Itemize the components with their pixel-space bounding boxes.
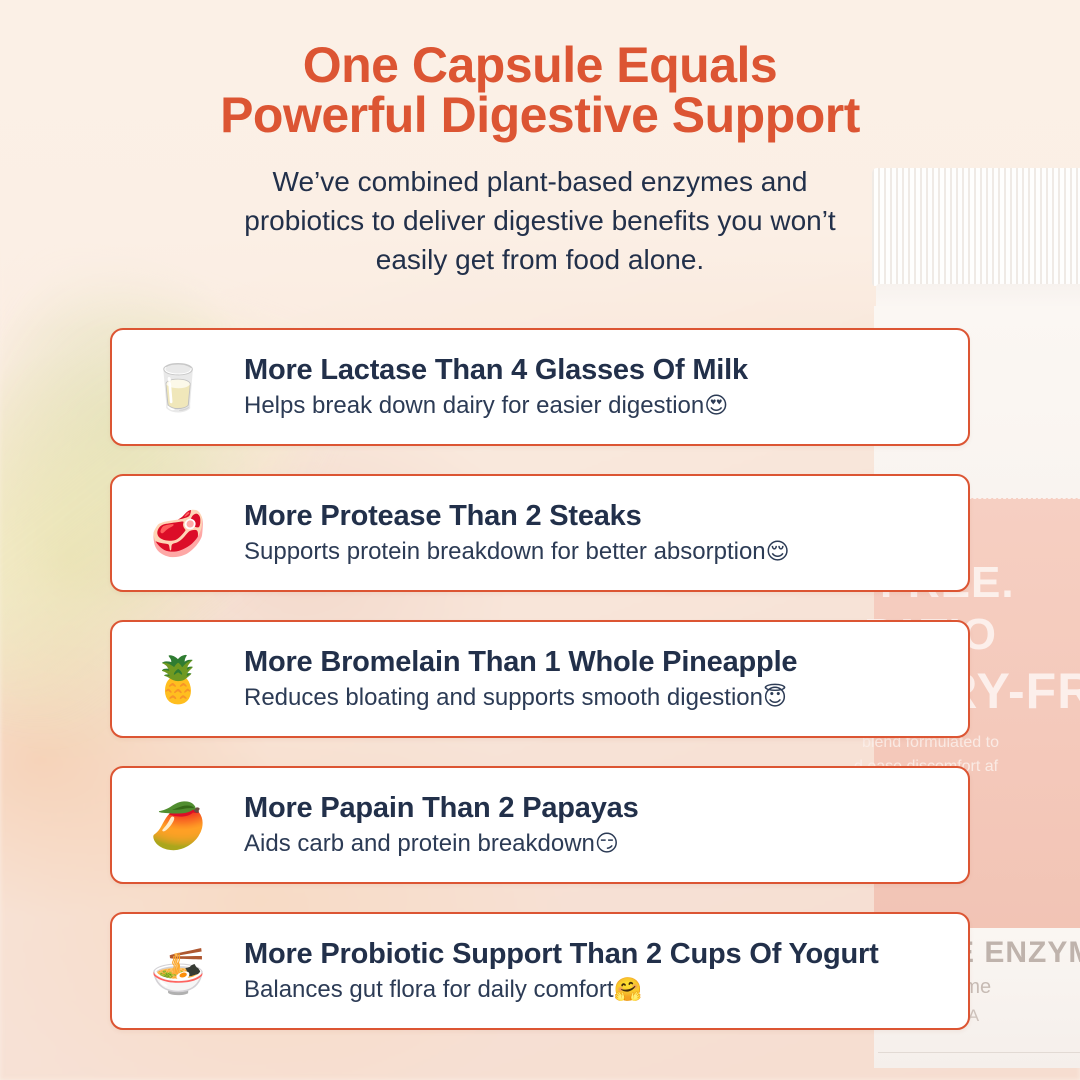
heart-eyes-emoji: 😍 xyxy=(704,393,728,419)
benefit-card-description: Supports protein breakdown for better ab… xyxy=(244,537,950,567)
benefit-card[interactable]: 🍍 More Bromelain Than 1 Whole Pineapple … xyxy=(110,620,970,738)
bowl-with-spoon-icon: 🍜 xyxy=(112,949,244,994)
relieved-face-emoji: 😌 xyxy=(766,539,790,565)
benefit-card-list: 🥛 More Lactase Than 4 Glasses Of Milk He… xyxy=(110,328,970,1030)
header: One Capsule Equals Powerful Digestive Su… xyxy=(0,0,1080,279)
benefit-card[interactable]: 🍜 More Probiotic Support Than 2 Cups Of … xyxy=(110,912,970,1030)
benefit-card[interactable]: 🥭 More Papain Than 2 Papayas Aids carb a… xyxy=(110,766,970,884)
benefit-card-description: Helps break down dairy for easier digest… xyxy=(244,391,950,421)
benefit-card[interactable]: 🥩 More Protease Than 2 Steaks Supports p… xyxy=(110,474,970,592)
benefit-card-title: More Protease Than 2 Steaks xyxy=(244,499,950,533)
glass-of-milk-icon: 🥛 xyxy=(112,365,244,410)
benefit-card-text: More Bromelain Than 1 Whole Pineapple Re… xyxy=(244,645,968,713)
benefit-card-title: More Probiotic Support Than 2 Cups Of Yo… xyxy=(244,937,950,971)
benefit-card-description-text: Supports protein breakdown for better ab… xyxy=(244,538,766,565)
page-title-line-1: One Capsule Equals xyxy=(0,40,1080,90)
halo-face-emoji: 😇 xyxy=(763,685,787,711)
benefit-card-description: Reduces bloating and supports smooth dig… xyxy=(244,683,950,713)
benefit-card-description: Aids carb and protein breakdown😏 xyxy=(244,829,950,859)
pineapple-icon: 🍍 xyxy=(112,657,244,702)
benefit-card-description-text: Aids carb and protein breakdown xyxy=(244,830,595,857)
benefit-card-description-text: Helps break down dairy for easier digest… xyxy=(244,392,704,419)
page-subtitle: We’ve combined plant-based enzymes and p… xyxy=(210,162,870,279)
page-title-line-2: Powerful Digestive Support xyxy=(0,90,1080,140)
benefit-card-title: More Bromelain Than 1 Whole Pineapple xyxy=(244,645,950,679)
smirking-face-emoji: 😏 xyxy=(595,831,619,857)
benefit-card-text: More Lactase Than 4 Glasses Of Milk Help… xyxy=(244,353,968,421)
hugging-face-emoji: 🤗 xyxy=(614,977,643,1003)
bottle-label-bottom-rule xyxy=(878,1052,1080,1053)
benefit-card-text: More Protease Than 2 Steaks Supports pro… xyxy=(244,499,968,567)
page-title: One Capsule Equals Powerful Digestive Su… xyxy=(0,40,1080,140)
benefit-card-description-text: Reduces bloating and supports smooth dig… xyxy=(244,684,763,711)
cut-of-meat-icon: 🥩 xyxy=(112,511,244,556)
benefit-card-text: More Probiotic Support Than 2 Cups Of Yo… xyxy=(244,937,968,1005)
promo-graphic: FREE. PATIO WORRY-FREE blend formulated … xyxy=(0,0,1080,1080)
benefit-card-title: More Lactase Than 4 Glasses Of Milk xyxy=(244,353,950,387)
benefit-card-title: More Papain Than 2 Papayas xyxy=(244,791,950,825)
benefit-card[interactable]: 🥛 More Lactase Than 4 Glasses Of Milk He… xyxy=(110,328,970,446)
benefit-card-text: More Papain Than 2 Papayas Aids carb and… xyxy=(244,791,968,859)
mango-papaya-icon: 🥭 xyxy=(112,803,244,848)
benefit-card-description-text: Balances gut flora for daily comfort xyxy=(244,976,614,1003)
benefit-card-description: Balances gut flora for daily comfort🤗 xyxy=(244,975,950,1005)
